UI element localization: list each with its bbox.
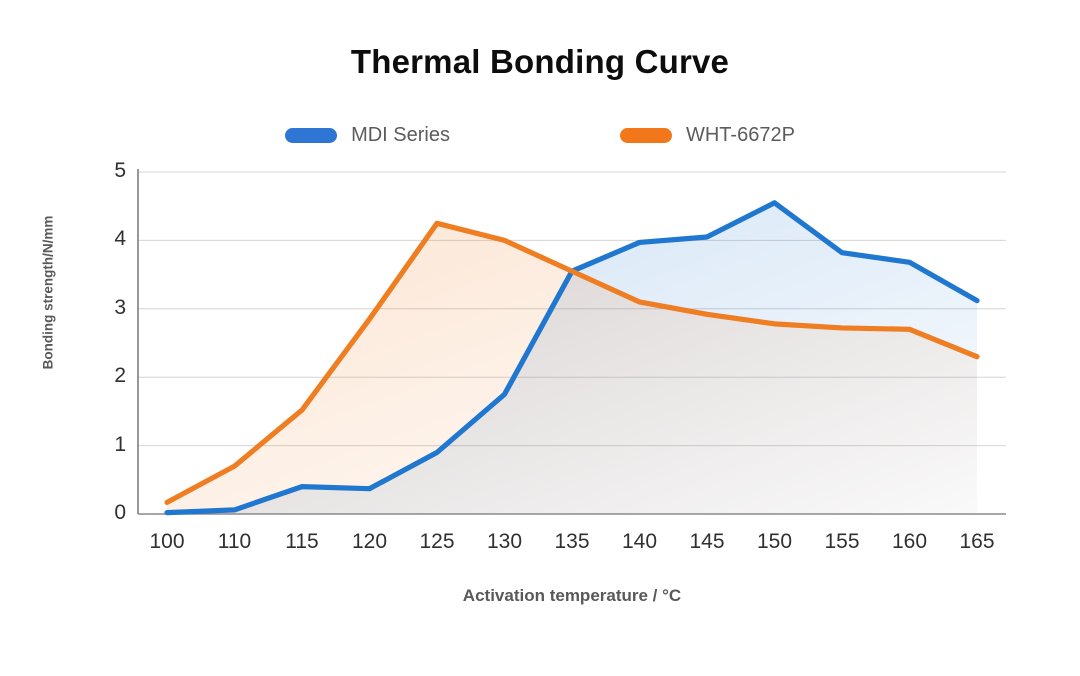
x-tick-label: 110 [200,530,270,554]
x-tick-label: 130 [470,530,540,554]
x-tick-label: 120 [335,530,405,554]
x-tick-label: 165 [942,530,1012,554]
x-tick-label: 145 [672,530,742,554]
x-tick-label: 160 [875,530,945,554]
x-tick-label: 100 [132,530,202,554]
chart-container: Thermal Bonding Curve MDI Series WHT-667… [0,0,1080,676]
x-axis-tick-labels: 100110115120125130135140145150155160165 [138,530,1006,570]
x-tick-label: 115 [267,530,337,554]
x-tick-label: 140 [605,530,675,554]
plot-svg [0,0,1080,676]
x-tick-label: 150 [740,530,810,554]
x-axis-title: Activation temperature / °C [138,586,1006,606]
plot-area-wrapper: Bonding strength/N/mm 012345 10011011512… [0,0,1080,676]
x-tick-label: 155 [807,530,877,554]
x-tick-label: 135 [537,530,607,554]
x-tick-label: 125 [402,530,472,554]
